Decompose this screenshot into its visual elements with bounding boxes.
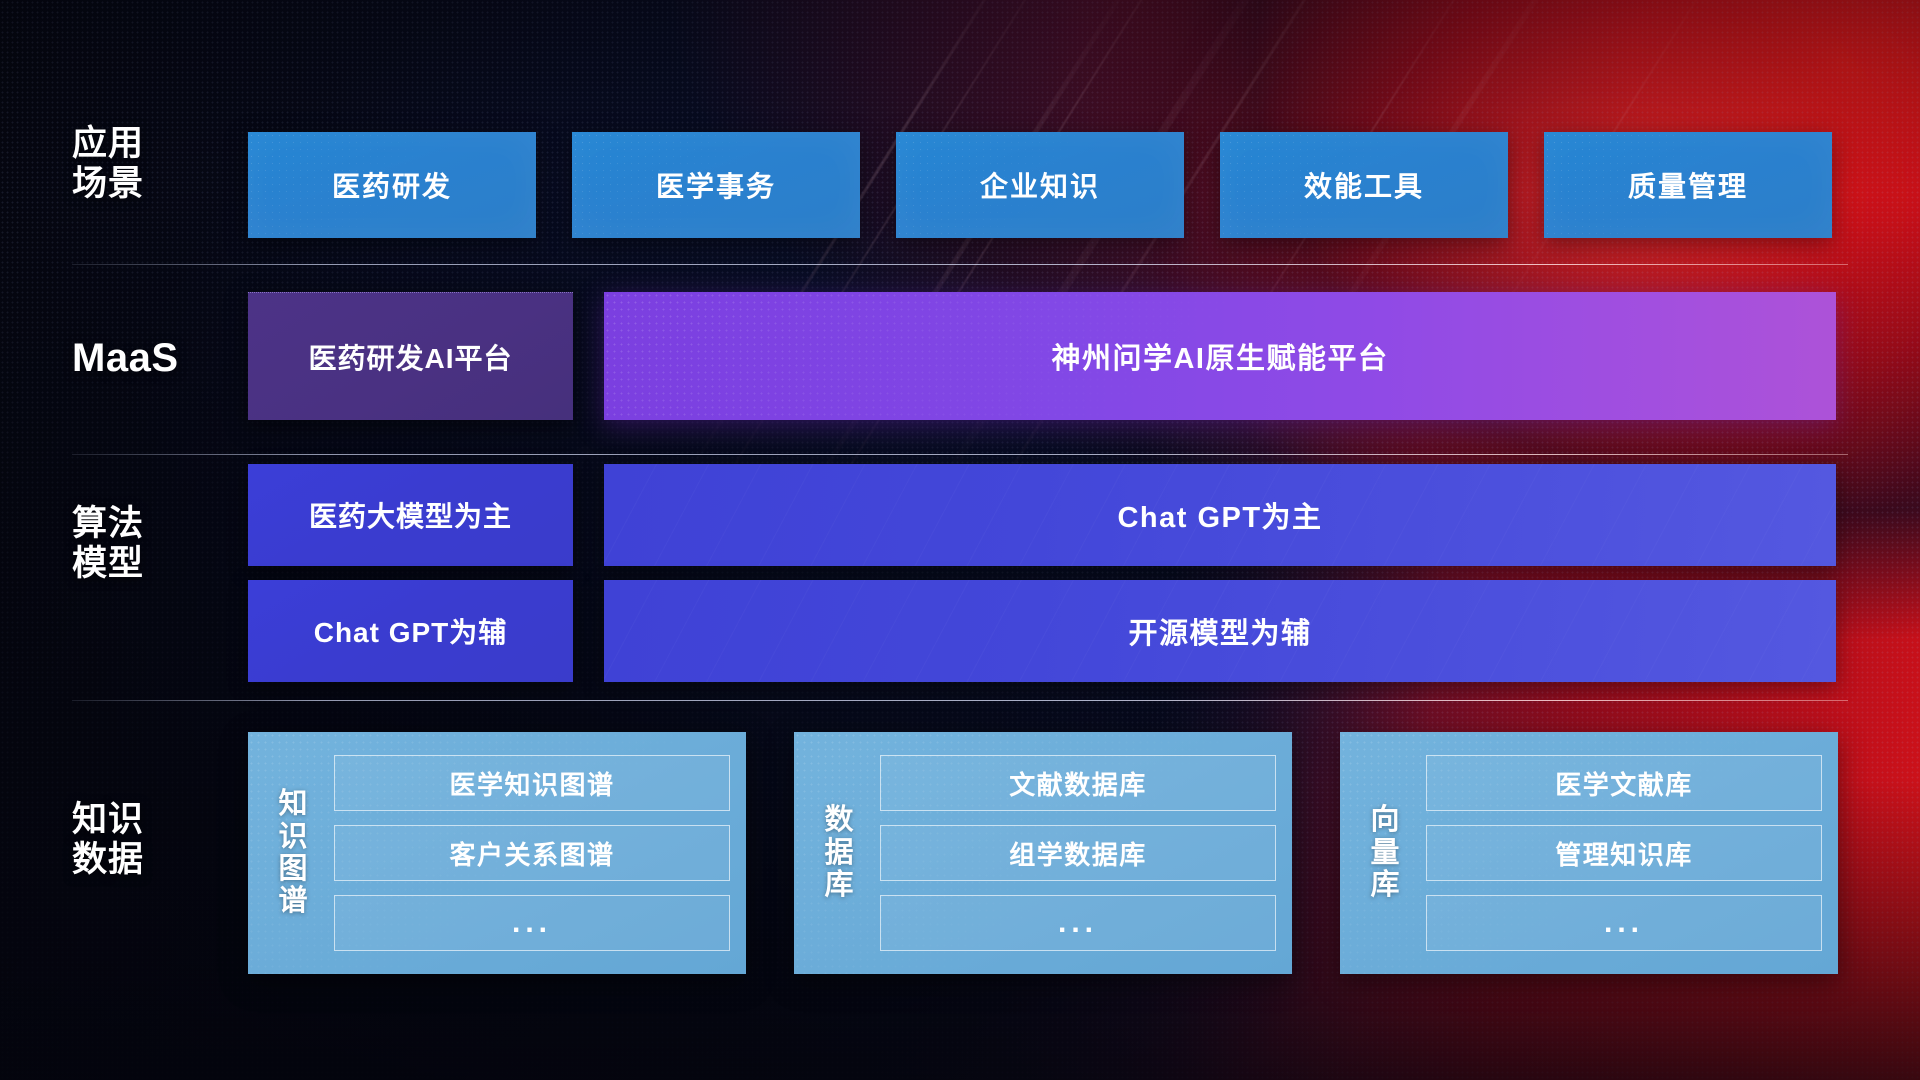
knowledge-item-label: ... (1058, 906, 1098, 940)
knowledge-item-omics-database[interactable]: 组学数据库 (880, 825, 1276, 881)
slide-stage: 应用 场景 医药研发 医学事务 企业知识 效能工具 质量管理 MaaS (0, 0, 1920, 1080)
app-tile-quality-management[interactable]: 质量管理 (1544, 132, 1832, 238)
vlabel-char: 图 (278, 853, 307, 885)
knowledge-item-label: 医学文献库 (1555, 765, 1693, 802)
knowledge-item-more[interactable]: ... (334, 895, 730, 951)
knowledge-panel-database[interactable]: 数 据 库 文献数据库 组学数据库 ... (794, 732, 1292, 974)
rail-label-maas: MaaS (72, 336, 200, 382)
algo-tile-label: Chat GPT为辅 (314, 611, 508, 651)
knowledge-item-label: ... (512, 906, 552, 940)
knowledge-panel-vertical-label: 知 识 图 谱 (266, 746, 320, 960)
divider-after-application-scenarios (72, 264, 1848, 265)
app-tile-label: 质量管理 (1628, 165, 1748, 205)
app-tile-label: 医学事务 (656, 165, 776, 205)
app-tile-label: 企业知识 (980, 165, 1100, 205)
algo-banner-opensource-secondary[interactable]: 开源模型为辅 (604, 580, 1836, 682)
architecture-diagram: 应用 场景 医药研发 医学事务 企业知识 效能工具 质量管理 MaaS (0, 0, 1920, 1080)
maas-tile-drug-rnd-ai-platform[interactable]: 医药研发AI平台 (248, 292, 573, 420)
knowledge-panel-vector-store[interactable]: 向 量 库 医学文献库 管理知识库 ... (1340, 732, 1838, 974)
app-tile-medical-affairs[interactable]: 医学事务 (572, 132, 860, 238)
rail-label-application-scenarios: 应用 场景 (72, 124, 200, 204)
algo-banner-label: Chat GPT为主 (1117, 494, 1322, 536)
vlabel-char: 向 (1370, 804, 1399, 836)
algo-tile-pharma-large-model-primary[interactable]: 医药大模型为主 (248, 464, 573, 566)
vlabel-char: 库 (1370, 869, 1399, 901)
vlabel-char: 数 (824, 804, 853, 836)
maas-banner-shenzhou-wenxue-platform[interactable]: 神州问学AI原生赋能平台 (604, 292, 1836, 420)
app-tile-drug-rnd[interactable]: 医药研发 (248, 132, 536, 238)
app-tile-label: 医药研发 (332, 165, 452, 205)
knowledge-item-medical-literature-store[interactable]: 医学文献库 (1426, 755, 1822, 811)
knowledge-item-label: 客户关系图谱 (449, 835, 614, 872)
app-tile-efficiency-tools[interactable]: 效能工具 (1220, 132, 1508, 238)
knowledge-item-list: 医学知识图谱 客户关系图谱 ... (334, 746, 730, 960)
maas-tile-label: 医药研发AI平台 (308, 337, 512, 377)
knowledge-item-label: 组学数据库 (1009, 835, 1147, 872)
app-tile-label: 效能工具 (1304, 165, 1424, 205)
vlabel-char: 知 (278, 788, 307, 820)
knowledge-item-list: 医学文献库 管理知识库 ... (1426, 746, 1822, 960)
knowledge-item-literature-database[interactable]: 文献数据库 (880, 755, 1276, 811)
app-tile-enterprise-knowledge[interactable]: 企业知识 (896, 132, 1184, 238)
vlabel-char: 量 (1370, 837, 1399, 869)
vlabel-char: 谱 (278, 885, 307, 917)
knowledge-item-more[interactable]: ... (1426, 895, 1822, 951)
rail-label-algorithm-model: 算法 模型 (72, 504, 200, 584)
vlabel-char: 据 (824, 837, 853, 869)
knowledge-panel-vertical-label: 数 据 库 (812, 746, 866, 960)
knowledge-item-medical-knowledge-graph[interactable]: 医学知识图谱 (334, 755, 730, 811)
knowledge-item-more[interactable]: ... (880, 895, 1276, 951)
knowledge-panel-knowledge-graph[interactable]: 知 识 图 谱 医学知识图谱 客户关系图谱 ... (248, 732, 746, 974)
algo-banner-chatgpt-primary[interactable]: Chat GPT为主 (604, 464, 1836, 566)
knowledge-item-list: 文献数据库 组学数据库 ... (880, 746, 1276, 960)
rail-label-knowledge-data: 知识 数据 (72, 800, 200, 880)
application-scenario-strip: 医药研发 医学事务 企业知识 效能工具 质量管理 (248, 132, 1832, 238)
divider-after-maas (72, 454, 1848, 455)
algo-banner-label: 开源模型为辅 (1128, 610, 1311, 652)
knowledge-item-label: 医学知识图谱 (449, 765, 614, 802)
vlabel-char: 库 (824, 869, 853, 901)
divider-after-algorithm-model (72, 700, 1848, 701)
knowledge-item-label: ... (1604, 906, 1644, 940)
vlabel-char: 识 (278, 821, 307, 853)
knowledge-item-label: 管理知识库 (1555, 835, 1693, 872)
knowledge-item-customer-relation-graph[interactable]: 客户关系图谱 (334, 825, 730, 881)
knowledge-panel-vertical-label: 向 量 库 (1358, 746, 1412, 960)
knowledge-item-management-knowledge-store[interactable]: 管理知识库 (1426, 825, 1822, 881)
algo-tile-chatgpt-secondary[interactable]: Chat GPT为辅 (248, 580, 573, 682)
knowledge-item-label: 文献数据库 (1009, 765, 1147, 802)
algo-tile-label: 医药大模型为主 (309, 495, 512, 535)
maas-banner-label: 神州问学AI原生赋能平台 (1051, 335, 1388, 377)
